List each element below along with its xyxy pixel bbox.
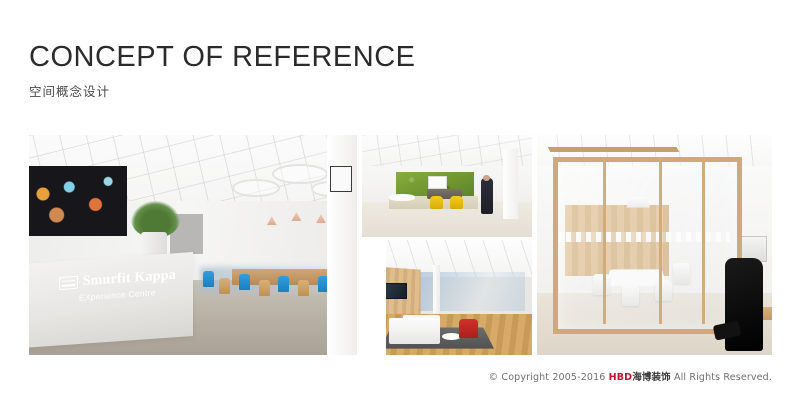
pod-glass-mullion xyxy=(603,157,606,324)
person-head xyxy=(483,175,490,181)
meeting-pod-scene xyxy=(537,135,772,355)
moss-wall-lounge-photo[interactable] xyxy=(362,135,532,237)
wall-display-screen xyxy=(330,166,352,192)
yellow-armchair xyxy=(430,196,443,209)
structural-pillar xyxy=(433,265,440,313)
yellow-armchair xyxy=(450,196,463,209)
person-standing xyxy=(481,178,493,214)
photo-gallery: Smurfit Kappa EXperience Centre xyxy=(29,135,772,355)
page-header: CONCEPT OF REFERENCE 空间概念设计 xyxy=(29,42,416,100)
copyright-suffix: All Rights Reserved. xyxy=(671,372,772,383)
wood-chair xyxy=(259,280,270,296)
white-sofa-front xyxy=(389,318,440,343)
wood-chair xyxy=(298,280,309,296)
wall-artwork xyxy=(29,166,127,236)
moss-lounge-scene xyxy=(362,135,532,237)
red-accent-chair xyxy=(459,319,478,337)
round-table xyxy=(389,194,415,201)
blue-chair xyxy=(239,274,250,290)
brand-hbd-cn: 海博装饰 xyxy=(632,372,671,383)
ring-pendant-light xyxy=(272,164,328,184)
wall-window xyxy=(428,176,447,189)
wall-column xyxy=(503,149,518,218)
blue-chair xyxy=(278,276,289,292)
glass-pod-roof-edge xyxy=(548,147,679,152)
pod-glass-mullion xyxy=(702,157,705,324)
smurfit-kappa-logo-icon xyxy=(59,276,78,290)
reception-scene: Smurfit Kappa EXperience Centre xyxy=(29,135,357,355)
sofa-lounge-photo[interactable] xyxy=(362,240,532,355)
pod-glass-mullion xyxy=(659,157,662,324)
wood-chair xyxy=(219,278,230,294)
copyright-prefix: © Copyright 2005-2016 xyxy=(489,372,609,383)
glass-pod-frame xyxy=(553,157,742,334)
page-subtitle: 空间概念设计 xyxy=(29,81,416,100)
blue-chair xyxy=(203,271,214,287)
sofa-lounge-scene xyxy=(362,240,532,355)
glass-meeting-pod-photo[interactable] xyxy=(537,135,772,355)
page-title: CONCEPT OF REFERENCE xyxy=(29,42,416,72)
copyright-footer: © Copyright 2005-2016 HBD海博装饰 All Rights… xyxy=(489,369,772,383)
coffee-table xyxy=(442,333,461,340)
brand-hbd: HBD xyxy=(609,372,633,383)
photo-left-mask xyxy=(362,240,386,355)
black-task-chair xyxy=(725,258,763,350)
reception-lobby-photo[interactable]: Smurfit Kappa EXperience Centre xyxy=(29,135,357,355)
